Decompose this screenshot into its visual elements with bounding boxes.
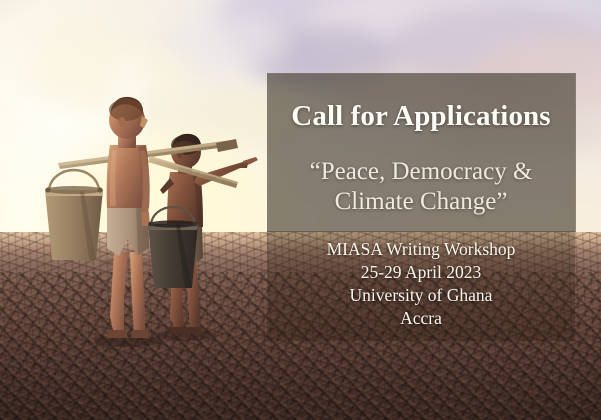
event-details: MIASA Writing Workshop 25-29 April 2023 … [267,238,575,329]
theme-line-2: Climate Change” [267,187,575,217]
poster-text-block: Call for Applications “Peace, Democracy … [267,73,575,341]
bucket-left [45,170,103,260]
event-city: Accra [267,307,575,330]
poster-image: Call for Applications “Peace, Democracy … [0,0,601,420]
event-name: MIASA Writing Workshop [267,238,575,261]
event-venue: University of Ghana [267,284,575,307]
workshop-theme: “Peace, Democracy & Climate Change” [267,157,575,216]
page-title: Call for Applications [267,101,575,131]
event-dates: 25-29 April 2023 [267,261,575,284]
theme-line-1: “Peace, Democracy & [310,158,533,185]
boy-with-pole [106,97,150,338]
